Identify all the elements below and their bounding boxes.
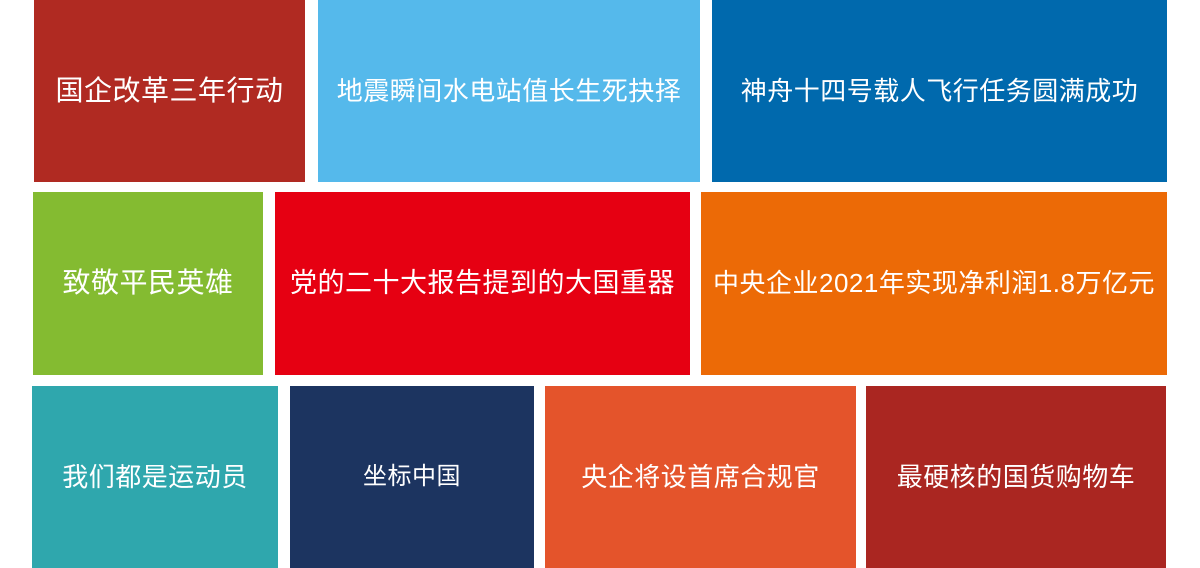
- tile-zuobiao-zhongguo[interactable]: 坐标中国: [290, 386, 534, 568]
- tile-women-yundongyuan[interactable]: 我们都是运动员: [32, 386, 278, 568]
- tile-shenzhou-14[interactable]: 神舟十四号载人飞行任务圆满成功: [712, 0, 1167, 182]
- tile-label: 最硬核的国货购物车: [897, 463, 1136, 492]
- tile-label: 国企改革三年行动: [55, 76, 283, 107]
- tile-zhongyang-qiye-lirun[interactable]: 中央企业2021年实现净利润1.8万亿元: [701, 192, 1167, 375]
- tile-board: 国企改革三年行动地震瞬间水电站值长生死抉择神舟十四号载人飞行任务圆满成功致敬平民…: [0, 0, 1200, 568]
- tile-label: 地震瞬间水电站值长生死抉择: [337, 77, 682, 106]
- tile-dizhen-shuidianzhan[interactable]: 地震瞬间水电站值长生死抉择: [318, 0, 700, 182]
- tile-shouxi-heguiguan[interactable]: 央企将设首席合规官: [545, 386, 856, 568]
- tile-zhijing-yingxiong[interactable]: 致敬平民英雄: [33, 192, 263, 375]
- tile-guohuo-gouwuche[interactable]: 最硬核的国货购物车: [866, 386, 1166, 568]
- tile-label: 党的二十大报告提到的大国重器: [290, 269, 675, 299]
- tile-guoqi-gaige[interactable]: 国企改革三年行动: [34, 0, 305, 182]
- tile-label: 央企将设首席合规官: [581, 463, 820, 492]
- tile-label: 致敬平民英雄: [62, 268, 233, 299]
- tile-label: 坐标中国: [363, 464, 461, 490]
- tile-ershida-baogao[interactable]: 党的二十大报告提到的大国重器: [275, 192, 690, 375]
- tile-label: 神舟十四号载人飞行任务圆满成功: [741, 77, 1139, 106]
- tile-label: 我们都是运动员: [62, 463, 248, 492]
- tile-label: 中央企业2021年实现净利润1.8万亿元: [713, 269, 1155, 298]
